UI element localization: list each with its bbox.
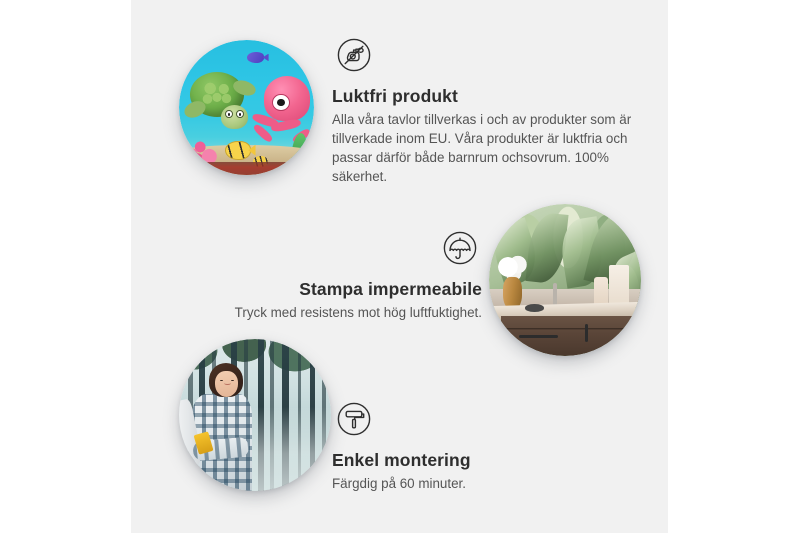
no-perfume-icon [332, 33, 376, 77]
blue-fish-shape [247, 52, 265, 63]
feature-title: Stampa impermeabile [187, 279, 482, 299]
vanity-cabinet-shape [501, 316, 641, 356]
installer-forest-mural-photo [179, 339, 331, 491]
feature-description: Alla våra tavlor tillverkas i och av pro… [332, 110, 637, 186]
woman-face-shape [215, 371, 238, 397]
underwater-cartoon-photo [179, 40, 314, 175]
feature-description: Färgdig på 60 minuter. [332, 474, 622, 493]
screenshot-root: Luktfri produkt Alla våra tavlor tillver… [0, 0, 800, 533]
coral-shape [182, 132, 217, 166]
yellow-fish-shape [225, 141, 251, 161]
feature-title: Enkel montering [332, 450, 622, 470]
feature-block-odourless: Luktfri produkt Alla våra tavlor tillver… [332, 33, 637, 186]
feature-description: Tryck med resistens mot hög luftfuktighe… [187, 303, 482, 322]
paint-roller-icon [332, 397, 376, 441]
tropical-bathroom-photo [489, 204, 641, 356]
umbrella-icon [438, 226, 482, 270]
feature-title: Luktfri produkt [332, 86, 637, 106]
turtle-head-shape [221, 105, 248, 129]
feature-panel: Luktfri produkt Alla våra tavlor tillver… [131, 0, 668, 533]
octopus-shape [264, 76, 310, 121]
feature-block-easy-mounting: Enkel montering Färgdig på 60 minuter. [332, 397, 622, 493]
feature-block-waterproof: Stampa impermeabile Tryck med resistens … [187, 226, 482, 322]
